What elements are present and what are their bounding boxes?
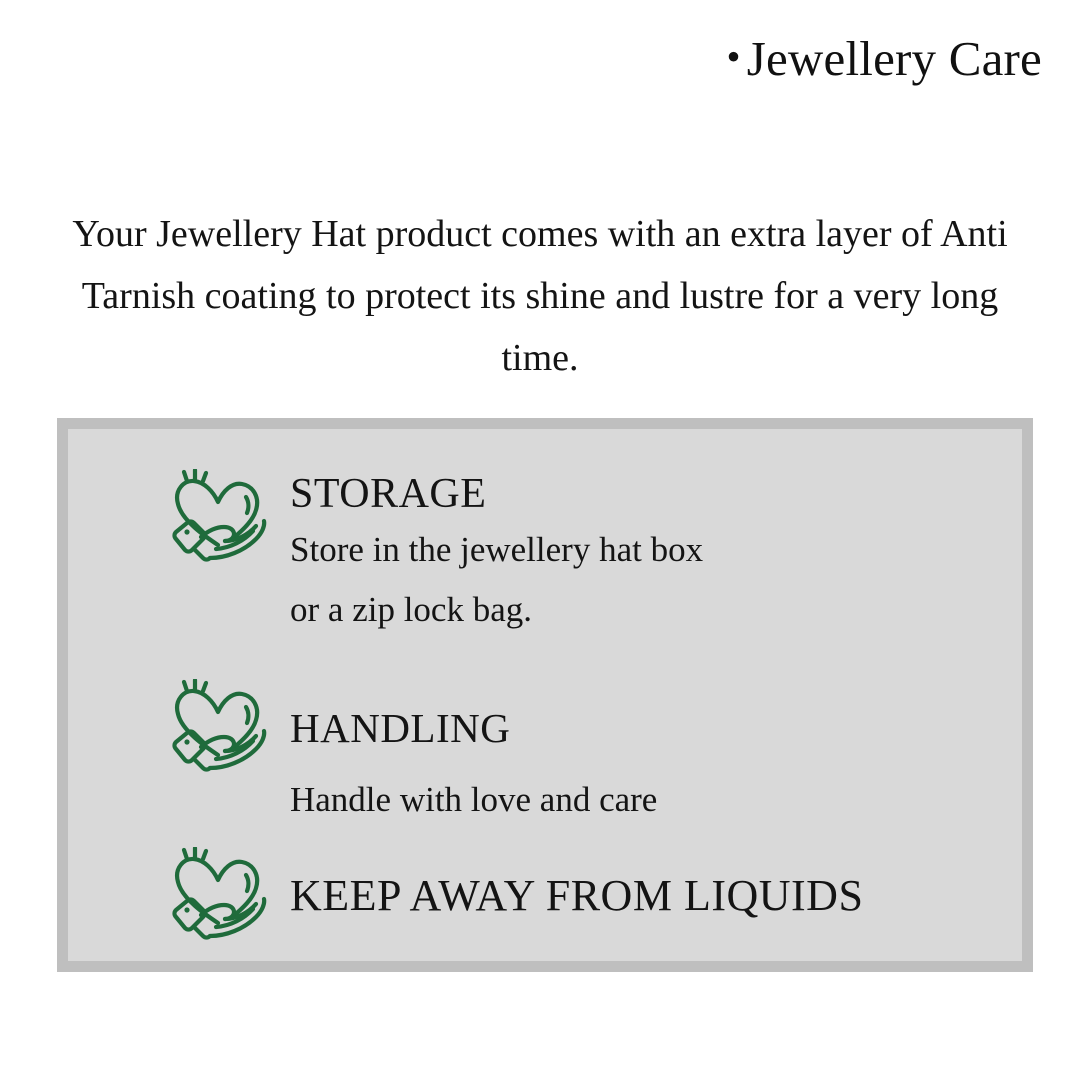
page-title: •Jewellery Care (726, 32, 1042, 86)
care-item-desc-line-2: or a zip lock bag. (290, 581, 703, 639)
care-item-handling: HANDLING Handle with love and care (168, 677, 657, 829)
care-item-keep-away-from-liquids: KEEP AWAY FROM LIQUIDS (168, 847, 863, 943)
care-instructions-list: STORAGE Store in the jewellery hat box o… (86, 455, 1004, 941)
care-item-heading: KEEP AWAY FROM LIQUIDS (290, 871, 863, 920)
care-item-text: KEEP AWAY FROM LIQUIDS (290, 847, 863, 921)
heart-in-hand-icon (168, 847, 272, 943)
bullet-icon: • (726, 34, 740, 79)
care-item-heading: HANDLING (290, 705, 510, 751)
heart-in-hand-icon (168, 679, 272, 775)
page-title-text: Jewellery Care (747, 31, 1042, 86)
intro-paragraph: Your Jewellery Hat product comes with an… (70, 203, 1010, 389)
care-item-storage: STORAGE Store in the jewellery hat box o… (168, 469, 703, 639)
care-item-text: STORAGE Store in the jewellery hat box o… (290, 469, 703, 639)
care-instructions-box: STORAGE Store in the jewellery hat box o… (57, 418, 1033, 972)
heart-in-hand-icon (168, 469, 272, 565)
care-item-desc-line-1: Handle with love and care (290, 771, 657, 829)
care-item-desc-line-1: Store in the jewellery hat box (290, 521, 703, 579)
care-item-heading: STORAGE (290, 471, 486, 517)
care-item-text: HANDLING Handle with love and care (290, 677, 657, 829)
